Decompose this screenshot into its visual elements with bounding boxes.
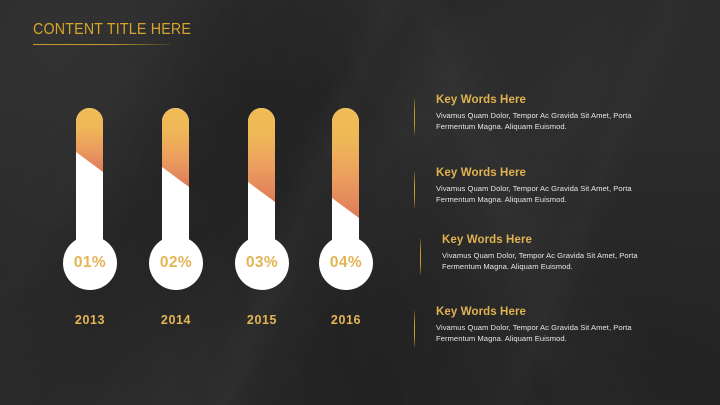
thermometer-fill — [76, 108, 103, 172]
key-point-block-2[interactable]: Key Words HereVivamus Quam Dolor, Tempor… — [414, 167, 660, 205]
key-point-body: Vivamus Quam Dolor, Tempor Ac Gravida Si… — [436, 323, 660, 344]
thermometer-fill — [332, 108, 359, 218]
key-point-heading: Key Words Here — [442, 234, 666, 247]
key-point-block-1[interactable]: Key Words HereVivamus Quam Dolor, Tempor… — [414, 94, 660, 132]
thermometer-bulb[interactable]: 01% — [63, 236, 117, 290]
thermometer-bulb[interactable]: 03% — [235, 236, 289, 290]
thermometer-chart: 01%201302%201403%201504%2016 — [0, 0, 400, 405]
block-accent-rule — [414, 172, 415, 208]
key-points-list: Key Words HereVivamus Quam Dolor, Tempor… — [410, 0, 720, 405]
block-accent-rule — [414, 311, 415, 347]
thermometer-percent-label: 03% — [246, 255, 278, 271]
thermometer-year-label: 2016 — [316, 313, 376, 327]
block-accent-rule — [414, 99, 415, 135]
thermometer-fill — [162, 108, 189, 187]
key-point-heading: Key Words Here — [436, 94, 660, 107]
thermometer-percent-label: 04% — [330, 255, 362, 271]
thermometer-year-label: 2013 — [60, 313, 120, 327]
thermometer-bulb[interactable]: 02% — [149, 236, 203, 290]
thermometer-year-label: 2015 — [232, 313, 292, 327]
key-point-body: Vivamus Quam Dolor, Tempor Ac Gravida Si… — [436, 184, 660, 205]
key-point-heading: Key Words Here — [436, 167, 660, 180]
thermometer-percent-label: 02% — [160, 255, 192, 271]
key-point-block-4[interactable]: Key Words HereVivamus Quam Dolor, Tempor… — [414, 306, 660, 344]
key-point-heading: Key Words Here — [436, 306, 660, 319]
slide-canvas: CONTENT TITLE HERE 01%201302%201403%2015… — [0, 0, 720, 405]
key-point-block-3[interactable]: Key Words HereVivamus Quam Dolor, Tempor… — [420, 234, 666, 272]
block-accent-rule — [420, 239, 421, 275]
key-point-body: Vivamus Quam Dolor, Tempor Ac Gravida Si… — [442, 251, 666, 272]
thermometer-year-label: 2014 — [146, 313, 206, 327]
thermometer-bulb[interactable]: 04% — [319, 236, 373, 290]
thermometer-fill — [248, 108, 275, 202]
key-point-body: Vivamus Quam Dolor, Tempor Ac Gravida Si… — [436, 111, 660, 132]
thermometer-percent-label: 01% — [74, 255, 106, 271]
